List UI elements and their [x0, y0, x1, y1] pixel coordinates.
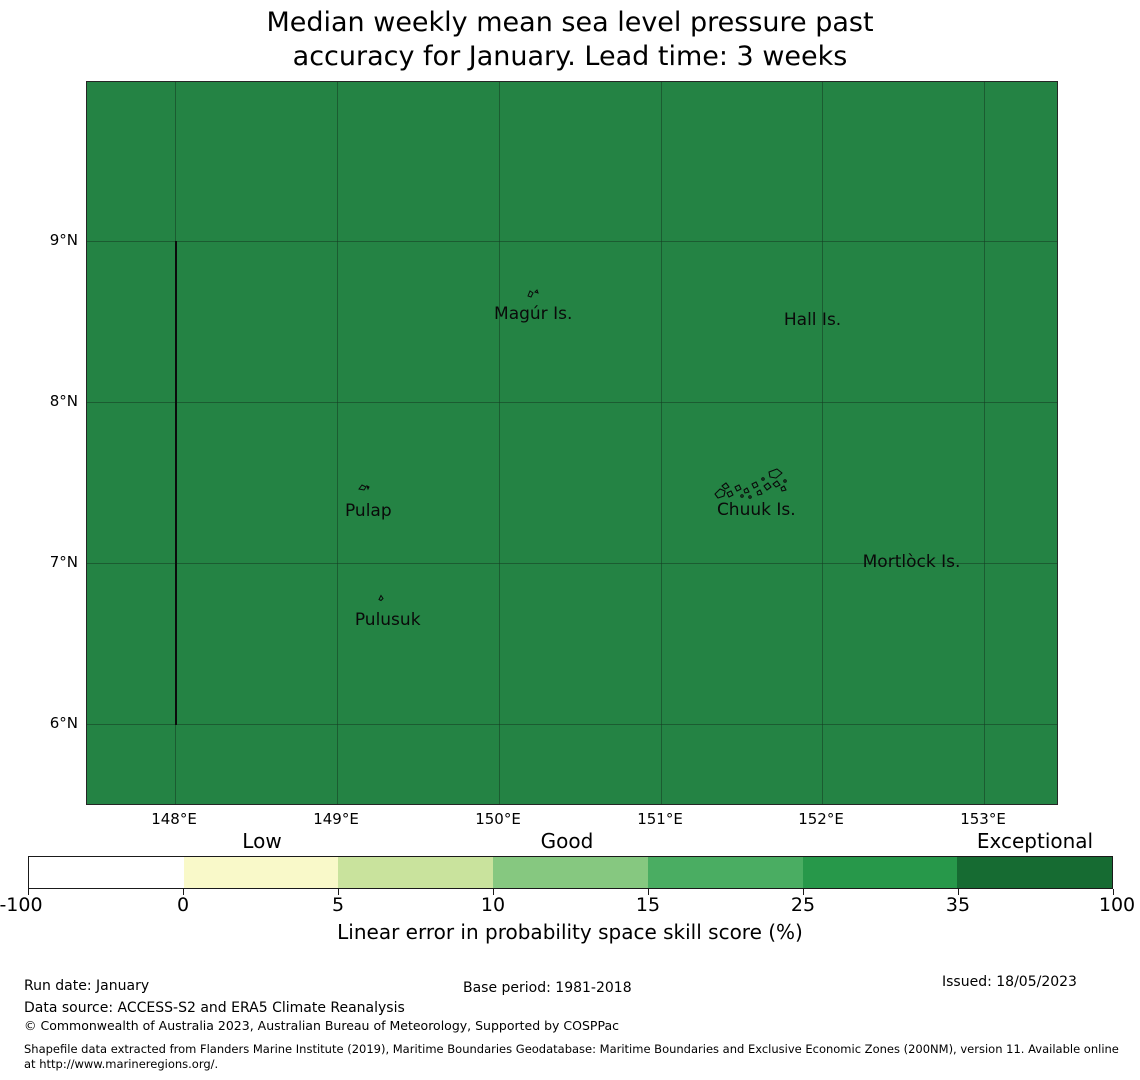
gridline-lon-149 [337, 82, 338, 804]
gridline-lon-152 [822, 82, 823, 804]
x-axis-tick-152e: 152°E [798, 810, 844, 828]
y-axis-tick-7n: 7°N [0, 553, 78, 571]
gridline-lon-151 [661, 82, 662, 804]
footer-issued-date: Issued: 18/05/2023 [942, 974, 1077, 990]
eez-boundary-line [175, 241, 177, 725]
x-axis-tick-148e: 148°E [151, 810, 197, 828]
pulap-island-shape [356, 482, 372, 494]
gridline-lon-153 [984, 82, 985, 804]
map-plot-area[interactable]: Magúr Is. Hall Is. Pulap Chuuk Is. Mortl… [86, 81, 1058, 805]
colorbar-segment-1 [29, 857, 184, 888]
colorbar-segment-5 [648, 857, 803, 888]
colorbar-ticklabel-0: 0 [177, 894, 189, 916]
colorbar-segment-2 [184, 857, 339, 888]
colorbar-category-good: Good [541, 829, 594, 853]
footer-base-period: Base period: 1981-2018 [463, 980, 632, 996]
y-axis-tick-6n: 6°N [0, 714, 78, 732]
y-axis-tick-8n: 8°N [0, 392, 78, 410]
map-label-pulusuk: Pulusuk [355, 610, 421, 630]
gridline-lat-9 [87, 241, 1057, 242]
pulusuk-island-shape [375, 592, 387, 603]
colorbar-segment-7 [957, 857, 1112, 888]
footer-copyright: © Commonwealth of Australia 2023, Austra… [24, 1018, 619, 1033]
y-axis-tick-9n: 9°N [0, 231, 78, 249]
map-label-pulap: Pulap [345, 501, 392, 521]
footer-data-source: Data source: ACCESS-S2 and ERA5 Climate … [24, 1000, 405, 1016]
colorbar[interactable] [28, 856, 1113, 889]
colorbar-gradient [28, 856, 1113, 889]
colorbar-ticklabel-minus100: -100 [0, 894, 43, 916]
gridline-lon-150 [499, 82, 500, 804]
colorbar-ticklabel-35: 35 [946, 894, 970, 916]
map-label-mortlock-is: Mortlòck Is. [863, 552, 961, 572]
colorbar-ticklabel-100: 100 [1099, 894, 1135, 916]
magur-island-shape [524, 287, 542, 301]
map-label-magur-is: Magúr Is. [494, 304, 572, 324]
gridline-lat-8 [87, 402, 1057, 403]
gridline-lat-6 [87, 724, 1057, 725]
map-label-chuuk-is: Chuuk Is. [717, 500, 796, 520]
footer-shapefile-note: Shapefile data extracted from Flanders M… [24, 1042, 1122, 1072]
colorbar-ticklabel-10: 10 [481, 894, 505, 916]
colorbar-segment-6 [803, 857, 958, 888]
title-line-1: Median weekly mean sea level pressure pa… [0, 6, 1140, 40]
colorbar-category-exceptional: Exceptional [977, 829, 1093, 853]
colorbar-axis-label: Linear error in probability space skill … [0, 920, 1140, 944]
x-axis-tick-149e: 149°E [313, 810, 359, 828]
colorbar-segment-3 [338, 857, 493, 888]
colorbar-category-low: Low [242, 829, 281, 853]
colorbar-ticklabel-25: 25 [791, 894, 815, 916]
colorbar-ticklabel-5: 5 [332, 894, 344, 916]
colorbar-segment-4 [493, 857, 648, 888]
colorbar-ticklabel-15: 15 [636, 894, 660, 916]
map-label-hall-is: Hall Is. [784, 310, 841, 330]
footer-run-date: Run date: January [24, 978, 149, 994]
page-title: Median weekly mean sea level pressure pa… [0, 6, 1140, 74]
x-axis-tick-150e: 150°E [475, 810, 521, 828]
x-axis-tick-153e: 153°E [960, 810, 1006, 828]
title-line-2: accuracy for January. Lead time: 3 weeks [0, 40, 1140, 74]
x-axis-tick-151e: 151°E [637, 810, 683, 828]
